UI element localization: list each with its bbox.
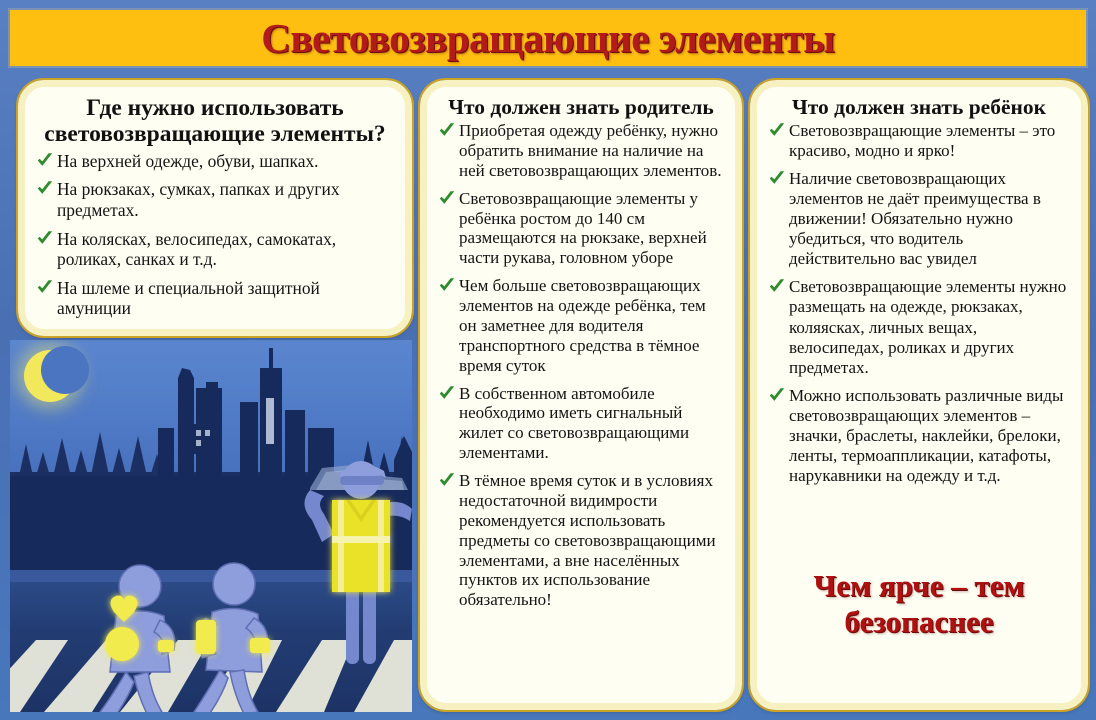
check-icon [768,387,786,404]
card2-bullet-list: Приобретая одежду ребёнку, нужно обратит… [438,121,724,610]
page-title: Световозвращающие элементы [261,14,835,62]
list-item: Можно использовать различные виды светов… [768,386,1070,486]
card1-title: Где нужно использовать световозвращающие… [36,95,394,148]
list-item: В собственном автомобиле необходимо имет… [438,384,724,464]
list-item: В тёмное время суток и в условиях недост… [438,471,724,610]
check-icon [768,278,786,295]
title-banner: Световозвращающие элементы [8,8,1088,68]
list-item-text: На шлеме и специальной защитной амуниции [57,278,320,318]
check-icon [768,170,786,187]
list-item-text: Световозвращающие элементы – это красиво… [789,121,1055,160]
list-item-text: В собственном автомобиле необходимо имет… [459,384,689,463]
adult-in-hi-vis-vest [304,461,412,664]
list-item: На верхней одежде, обуви, шапках. [36,151,394,171]
check-icon [36,152,54,169]
card3-bullet-list: Световозвращающие элементы – это красиво… [768,121,1070,486]
child-with-backpack-reflector [194,563,270,712]
list-item-text: Приобретая одежду ребёнку, нужно обратит… [459,121,722,180]
list-item: Световозвращающие элементы нужно размеща… [768,277,1070,377]
card3-title: Что должен знать ребёнок [768,95,1070,119]
list-item: На колясках, велосипедах, самокатах, рол… [36,229,394,270]
poster-root: Световозвращающие элементы [0,0,1096,720]
check-icon [438,190,456,207]
card1-bullet-list: На верхней одежде, обуви, шапках. На рюк… [36,151,394,319]
list-item: Чем больше световозвращающих элементов н… [438,276,724,375]
list-item: Световозвращающие элементы – это красиво… [768,121,1070,161]
check-icon [36,230,54,247]
check-icon [438,277,456,294]
list-item-text: Световозвращающие элементы у ребёнка рос… [459,189,707,268]
tagline-brighter-is-safer: Чем ярче – тем безопаснее [757,568,1081,641]
list-item-text: На рюкзаках, сумках, папках и других пре… [57,179,340,219]
list-item: На рюкзаках, сумках, папках и других пре… [36,179,394,220]
list-item-text: На колясках, велосипедах, самокатах, рол… [57,229,336,269]
list-item-text: Чем больше световозвращающих элементов н… [459,276,706,375]
list-item-text: Световозвращающие элементы нужно размеща… [789,277,1066,376]
list-item-text: В тёмное время суток и в условиях недост… [459,471,716,609]
card-child-should-know: Что должен знать ребёнок Световозвращающ… [750,80,1088,710]
child-with-heart-reflector [100,565,175,712]
card2-title: Что должен знать родитель [438,95,724,119]
check-icon [36,279,54,296]
illustration-night-crosswalk [10,340,412,712]
list-item: Световозвращающие элементы у ребёнка рос… [438,189,724,269]
list-item-text: На верхней одежде, обуви, шапках. [57,151,319,171]
list-item-text: Можно использовать различные виды светов… [789,386,1063,485]
card-parent-should-know: Что должен знать родитель Приобретая оде… [420,80,742,710]
check-icon [438,472,456,489]
pedestrian-figures [10,340,412,712]
list-item: На шлеме и специальной защитной амуниции [36,278,394,319]
check-icon [768,122,786,139]
check-icon [438,122,456,139]
card-where-to-use: Где нужно использовать световозвращающие… [18,80,412,336]
list-item: Наличие световозвращающих элементов не д… [768,169,1070,269]
check-icon [438,385,456,402]
list-item: Приобретая одежду ребёнку, нужно обратит… [438,121,724,181]
check-icon [36,180,54,197]
list-item-text: Наличие световозвращающих элементов не д… [789,169,1041,268]
